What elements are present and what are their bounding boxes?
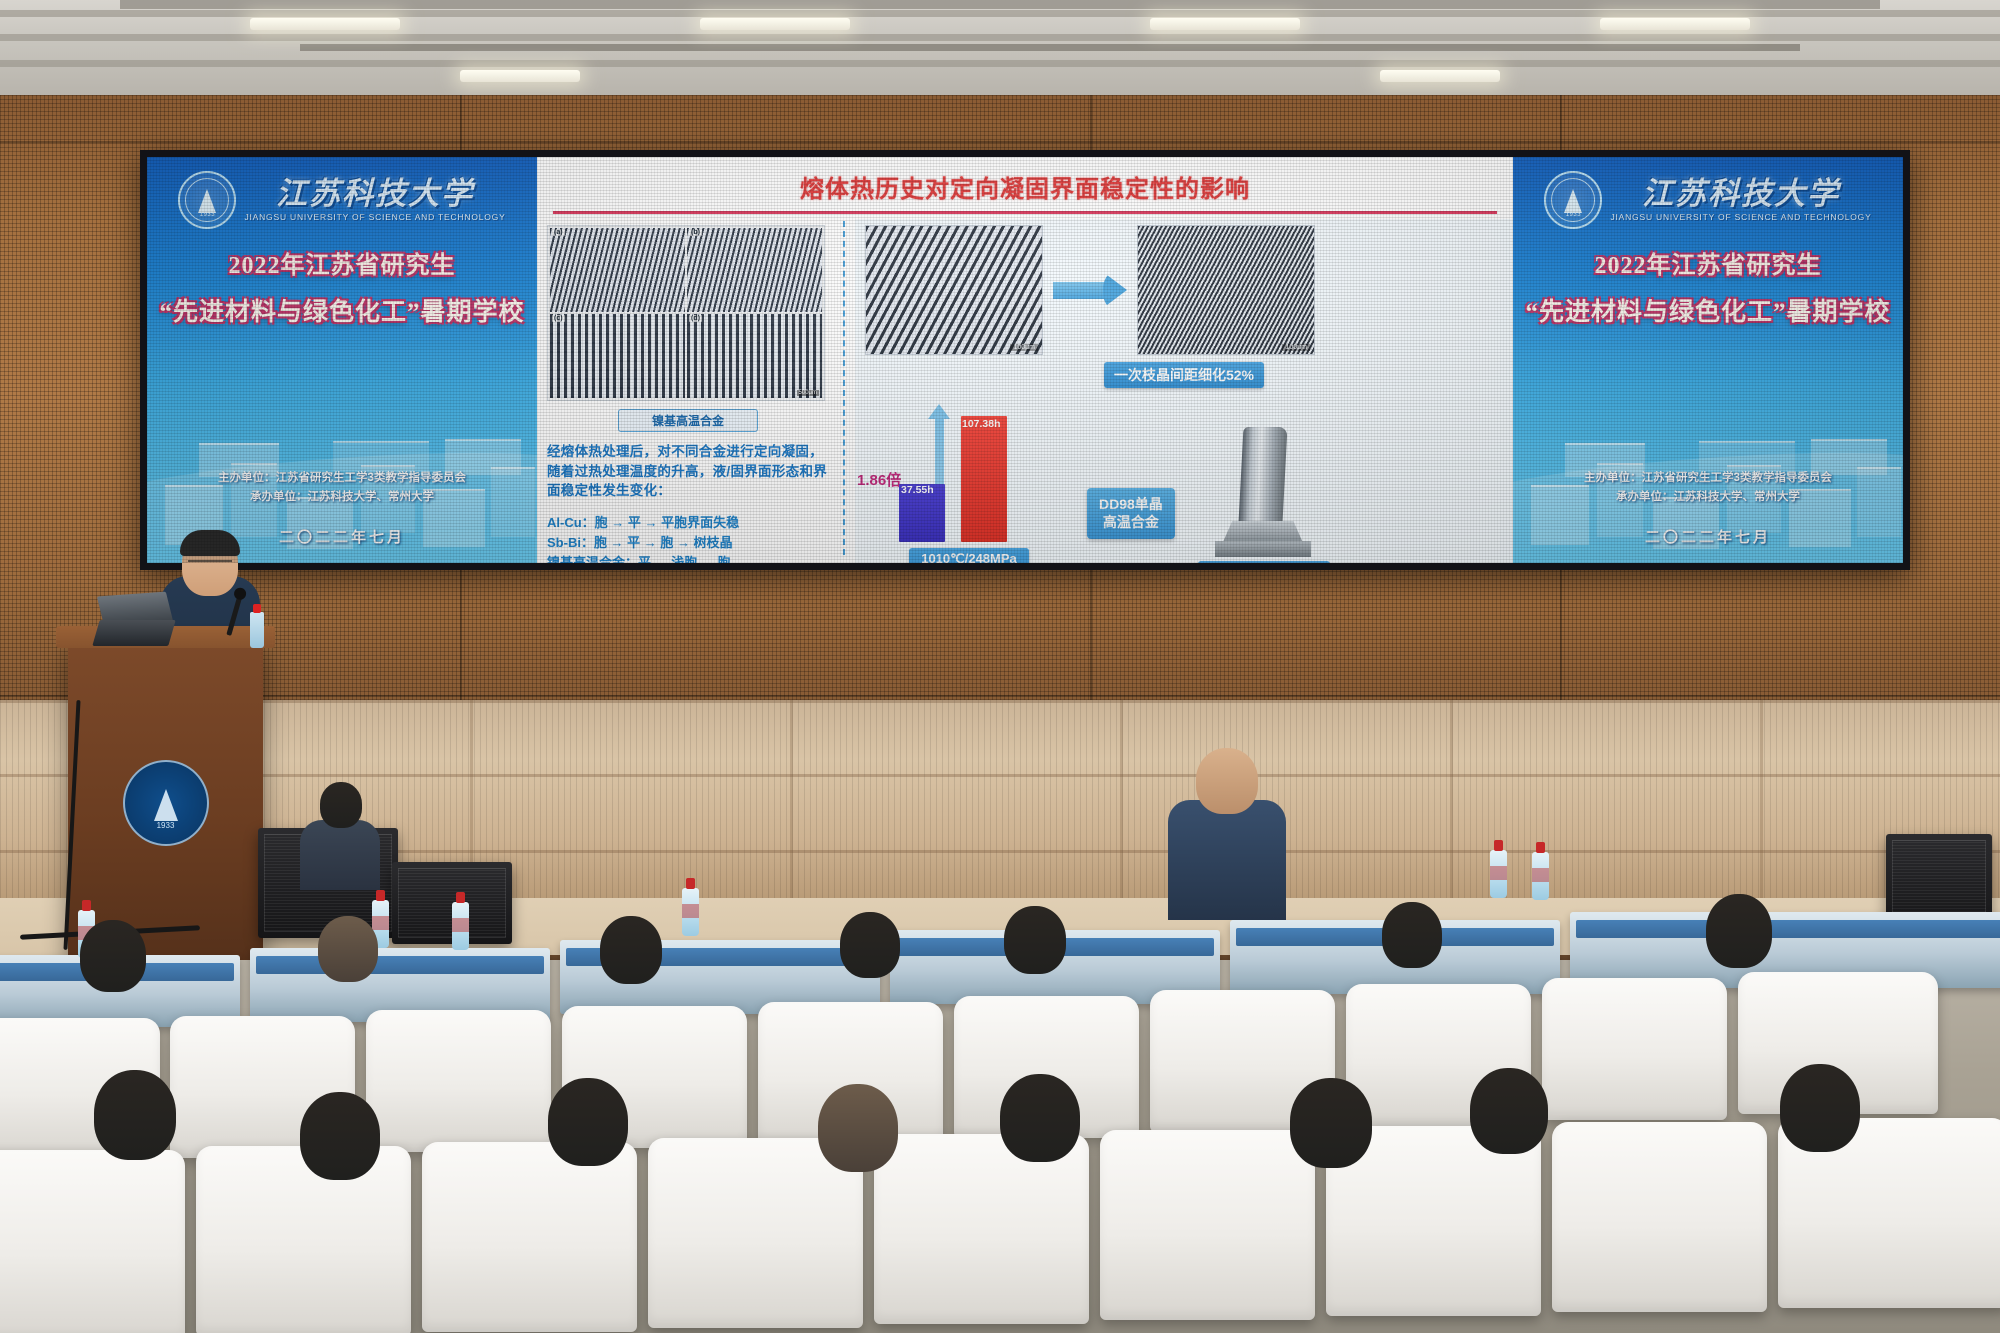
bullet-item: Sb-Bi：胞 → 平 → 胞 → 树枝晶	[547, 533, 829, 553]
alloy-label-chip: DD98单晶 高温合金	[1087, 488, 1175, 538]
audience-head	[80, 920, 146, 992]
slide-left-column: (a) (b) (c) (d) 500μm	[537, 219, 837, 563]
audience-chair	[366, 1010, 551, 1152]
audience-person	[300, 820, 380, 890]
bullet-item: Al-Cu：胞 → 平 → 平胞界面失稳	[547, 513, 829, 533]
banner-title-line1: 2022年江苏省研究生	[1523, 245, 1893, 280]
bar-treated	[961, 416, 1007, 542]
ceiling-light	[250, 18, 400, 30]
micrograph-d: (d) 500μm	[687, 314, 822, 398]
micrograph-label: (c)	[552, 315, 565, 322]
ceiling-light	[700, 18, 850, 30]
university-name-en: JIANGSU UNIVERSITY OF SCIENCE AND TECHNO…	[244, 212, 505, 222]
title-underline	[553, 211, 1497, 214]
audience-head	[548, 1078, 628, 1166]
slide-title: 熔体热历史对定向凝固界面稳定性的影响	[537, 169, 1513, 204]
university-logo-row: 1933 江苏科技大学 JIANGSU UNIVERSITY OF SCIENC…	[157, 171, 527, 229]
micrograph-a: (a)	[550, 228, 685, 312]
audience-chair	[648, 1138, 863, 1328]
sailboat-icon: 1933	[178, 171, 236, 229]
bar-value-label: 107.38h	[962, 418, 1001, 430]
audience-head	[1470, 1068, 1548, 1154]
audience-head	[1382, 902, 1442, 968]
audience-chair	[1542, 978, 1727, 1120]
podium-emblem-year: 1933	[125, 821, 207, 830]
university-name-cn: 江苏科技大学	[1610, 178, 1871, 209]
audience-area	[0, 960, 2000, 1333]
university-name-en: JIANGSU UNIVERSITY OF SCIENCE AND TECHNO…	[1610, 212, 1871, 222]
audience-chair	[1552, 1122, 1767, 1312]
micrograph-label: (b)	[689, 229, 702, 236]
bullet-item: 镍基高温合金：平 → 浅胞 → 胞	[547, 553, 829, 563]
scale-bar-label: 500μm	[797, 390, 819, 396]
slide-lower-row: 1.86倍 37.55h 107.38h 1010℃/248MPa	[865, 392, 1503, 563]
laptop[interactable]	[92, 620, 175, 646]
slide-right-column: 100μm 100μm 一次枝晶间距细化52%	[855, 219, 1513, 563]
audience-head	[1290, 1078, 1372, 1168]
refine-chip-wrap: 一次枝晶间距细化52%	[865, 362, 1503, 388]
water-bottle	[452, 902, 469, 950]
led-wall-screen[interactable]: 1933 江苏科技大学 JIANGSU UNIVERSITY OF SCIENC…	[140, 150, 1910, 570]
seal-year: 1933	[180, 212, 234, 218]
banner-coorganizer-label: 承办单位：江苏科技大学、常州大学	[147, 488, 537, 507]
banner-title-line1: 2022年江苏省研究生	[157, 245, 527, 280]
micrograph-grid: (a) (b) (c) (d) 500μm	[547, 225, 825, 401]
lecture-hall-scene: 1933 江苏科技大学 JIANGSU UNIVERSITY OF SCIENC…	[0, 0, 2000, 1333]
ceiling-duct	[300, 44, 1800, 51]
podium: 1933	[68, 640, 263, 970]
micrograph-b: (b)	[687, 228, 822, 312]
audience-head	[94, 1070, 176, 1160]
audience-head	[600, 916, 662, 984]
university-logo-row: 1933 江苏科技大学 JIANGSU UNIVERSITY OF SCIENC…	[1523, 171, 1893, 229]
audience-head	[1196, 748, 1258, 814]
left-banner-panel: 1933 江苏科技大学 JIANGSU UNIVERSITY OF SCIENC…	[147, 157, 537, 563]
ratio-annotation: 1.86倍	[857, 469, 901, 490]
arrow-right-icon	[1053, 272, 1127, 308]
chart-caption-chip: 1010℃/248MPa 持久寿命	[909, 548, 1029, 563]
audience-head	[1706, 894, 1772, 968]
bar-value-label: 37.55h	[901, 484, 934, 496]
audience-chair	[196, 1146, 411, 1333]
water-bottle	[682, 888, 699, 936]
audience-head	[840, 912, 900, 978]
audience-head	[320, 782, 362, 828]
durability-bar-chart: 1.86倍 37.55h 107.38h	[865, 392, 1065, 542]
ceiling-light	[460, 70, 580, 82]
audience-head	[818, 1084, 898, 1172]
alloy-line1: DD98单晶	[1099, 496, 1163, 512]
speaker-glasses	[188, 560, 232, 569]
ceiling	[0, 0, 2000, 95]
water-bottle	[1532, 852, 1549, 900]
banner-title-line2: “先进材料与绿色化工”暑期学校	[157, 292, 527, 328]
banner-host-label: 主办单位：江苏省研究生工学3类教学指导委员会	[1513, 469, 1903, 488]
refinement-chip: 一次枝晶间距细化52%	[1104, 362, 1264, 388]
banner-coorganizer-label: 承办单位：江苏科技大学、常州大学	[1513, 488, 1903, 507]
slide-paragraph: 经熔体热处理后，对不同合金进行定向凝固，随着过热处理温度的升高，液/固界面形态和…	[547, 442, 829, 501]
banner-host-label: 主办单位：江苏省研究生工学3类教学指导委员会	[147, 469, 537, 488]
banner-title-line2: “先进材料与绿色化工”暑期学校	[1523, 292, 1893, 328]
water-bottle	[1490, 850, 1507, 898]
sem-comparison-row: 100μm 100μm	[865, 225, 1503, 355]
audience-head	[1000, 1074, 1080, 1162]
alloy-line2: 高温合金	[1103, 514, 1159, 530]
sailboat-icon: 1933	[1544, 171, 1602, 229]
scale-bar-label: 100μm	[1010, 344, 1038, 351]
audience-head	[318, 916, 378, 982]
ceiling-light	[1150, 18, 1300, 30]
audience-head	[1004, 906, 1066, 974]
right-banner-panel: 1933 江苏科技大学 JIANGSU UNIVERSITY OF SCIENC…	[1513, 157, 1903, 563]
vertical-divider	[843, 221, 845, 555]
banner-organizers: 主办单位：江苏省研究生工学3类教学指导委员会 承办单位：江苏科技大学、常州大学	[147, 469, 537, 507]
slide-bullet-list: Al-Cu：胞 → 平 → 平胞界面失稳 Sb-Bi：胞 → 平 → 胞 → 树…	[547, 513, 829, 563]
sem-image-after: 100μm	[1137, 225, 1315, 355]
banner-date: 二〇二二年七月	[1513, 526, 1903, 547]
micrograph-label: (a)	[552, 229, 565, 236]
chart-caption-line1: 1010℃/248MPa	[921, 551, 1017, 563]
ceiling-duct	[120, 0, 1880, 9]
micrograph-c: (c)	[550, 314, 685, 398]
ceiling-light	[1600, 18, 1750, 30]
micrograph-caption: 镍基高温合金	[618, 409, 758, 432]
audience-chair	[1100, 1130, 1315, 1320]
audience-chair	[422, 1142, 637, 1332]
audience-head	[1780, 1064, 1860, 1152]
water-bottle	[250, 612, 264, 648]
presentation-slide: 熔体热历史对定向凝固界面稳定性的影响 (a) (b)	[537, 157, 1513, 563]
sem-image-before: 100μm	[865, 225, 1043, 355]
audience-chair	[0, 1150, 185, 1333]
seal-year: 1933	[1546, 212, 1600, 218]
micrograph-label: (d)	[689, 315, 702, 322]
audience-head	[300, 1092, 380, 1180]
scale-bar-label: 100μm	[1282, 344, 1310, 351]
audience-chair	[874, 1134, 1089, 1324]
turbine-blade-photo	[1189, 425, 1339, 564]
screen-content: 1933 江苏科技大学 JIANGSU UNIVERSITY OF SCIENC…	[147, 157, 1903, 563]
banner-date: 二〇二二年七月	[147, 526, 537, 547]
podium-emblem-icon: 1933	[123, 760, 209, 846]
university-name-cn: 江苏科技大学	[244, 178, 505, 209]
audience-person	[1168, 800, 1286, 920]
ceiling-light	[1380, 70, 1500, 82]
banner-organizers: 主办单位：江苏省研究生工学3类教学指导委员会 承办单位：江苏科技大学、常州大学	[1513, 469, 1903, 507]
